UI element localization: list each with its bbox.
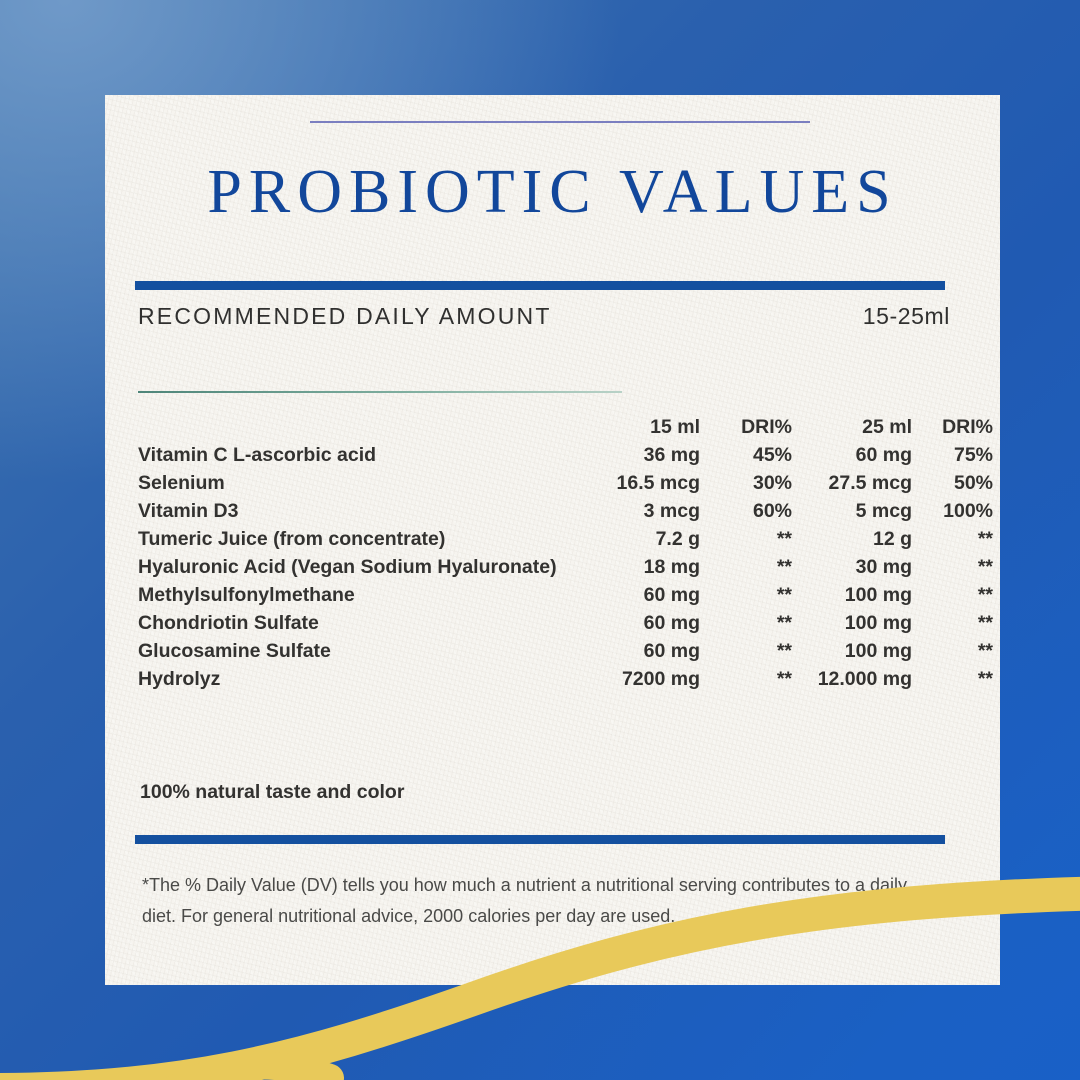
header-dri-25ml: DRI% <box>912 413 993 441</box>
header-nutrient <box>138 413 568 441</box>
table-row: Methylsulfonylmethane60 mg**100 mg** <box>138 581 993 609</box>
cell-nutrient-name: Chondriotin Sulfate <box>138 609 568 637</box>
header-dose-25ml: 25 ml <box>792 413 912 441</box>
cell-dri-15ml: ** <box>700 581 792 609</box>
nutrition-table-head: 15 ml DRI% 25 ml DRI% <box>138 413 993 441</box>
cell-dose-15ml: 16.5 mcg <box>568 469 700 497</box>
cell-dose-15ml: 18 mg <box>568 553 700 581</box>
cell-dri-15ml: ** <box>700 525 792 553</box>
cell-dose-25ml: 60 mg <box>792 441 912 469</box>
cell-dri-25ml: ** <box>912 637 993 665</box>
page-title: PROBIOTIC VALUES <box>105 157 1000 228</box>
nutrition-label-card: PROBIOTIC VALUES RECOMMENDED DAILY AMOUN… <box>105 95 1000 985</box>
cell-nutrient-name: Glucosamine Sulfate <box>138 637 568 665</box>
cell-dose-15ml: 36 mg <box>568 441 700 469</box>
natural-taste-note: 100% natural taste and color <box>140 781 404 804</box>
daily-value-footnote: *The % Daily Value (DV) tells you how mu… <box>142 870 932 932</box>
cell-nutrient-name: Hyaluronic Acid (Vegan Sodium Hyaluronat… <box>138 553 568 581</box>
cell-dri-15ml: 45% <box>700 441 792 469</box>
cell-dose-15ml: 60 mg <box>568 609 700 637</box>
cell-dri-25ml: 75% <box>912 441 993 469</box>
cell-dri-25ml: ** <box>912 581 993 609</box>
table-row: Hydrolyz7200 mg**12.000 mg** <box>138 665 993 693</box>
cell-dri-25ml: ** <box>912 665 993 693</box>
cell-dri-15ml: ** <box>700 553 792 581</box>
divider-rule-bottom <box>135 835 945 844</box>
table-row: Selenium16.5 mcg30%27.5 mcg50% <box>138 469 993 497</box>
cell-dose-25ml: 5 mcg <box>792 497 912 525</box>
swoosh-secondary-icon <box>150 1066 330 1080</box>
cell-dri-15ml: ** <box>700 665 792 693</box>
cell-dose-25ml: 27.5 mcg <box>792 469 912 497</box>
nutrition-table-body: Vitamin C L-ascorbic acid36 mg45%60 mg75… <box>138 441 993 693</box>
recommended-daily-amount-label: RECOMMENDED DAILY AMOUNT <box>138 303 552 330</box>
cell-dose-15ml: 7.2 g <box>568 525 700 553</box>
divider-rule-top <box>135 281 945 290</box>
cell-dose-25ml: 100 mg <box>792 581 912 609</box>
header-dose-15ml: 15 ml <box>568 413 700 441</box>
cell-dri-15ml: ** <box>700 609 792 637</box>
poster-canvas: PROBIOTIC VALUES RECOMMENDED DAILY AMOUN… <box>0 0 1080 1080</box>
cell-dri-25ml: 50% <box>912 469 993 497</box>
cell-dri-25ml: ** <box>912 609 993 637</box>
decorative-top-rule <box>310 121 810 123</box>
cell-dose-25ml: 12.000 mg <box>792 665 912 693</box>
cell-dri-25ml: 100% <box>912 497 993 525</box>
table-row: Glucosamine Sulfate60 mg**100 mg** <box>138 637 993 665</box>
cell-dose-15ml: 60 mg <box>568 637 700 665</box>
cell-dose-25ml: 100 mg <box>792 609 912 637</box>
table-header-row: 15 ml DRI% 25 ml DRI% <box>138 413 993 441</box>
table-row: Hyaluronic Acid (Vegan Sodium Hyaluronat… <box>138 553 993 581</box>
cell-nutrient-name: Vitamin D3 <box>138 497 568 525</box>
cell-dri-15ml: 60% <box>700 497 792 525</box>
cell-dose-25ml: 100 mg <box>792 637 912 665</box>
cell-dose-15ml: 60 mg <box>568 581 700 609</box>
table-row: Tumeric Juice (from concentrate)7.2 g**1… <box>138 525 993 553</box>
cell-dose-25ml: 12 g <box>792 525 912 553</box>
cell-dri-15ml: ** <box>700 637 792 665</box>
table-row: Vitamin D33 mcg60%5 mcg100% <box>138 497 993 525</box>
cell-nutrient-name: Tumeric Juice (from concentrate) <box>138 525 568 553</box>
table-row: Vitamin C L-ascorbic acid36 mg45%60 mg75… <box>138 441 993 469</box>
cell-dose-15ml: 7200 mg <box>568 665 700 693</box>
cell-dri-15ml: 30% <box>700 469 792 497</box>
recommended-daily-amount-value: 15-25ml <box>863 303 950 330</box>
cell-dose-25ml: 30 mg <box>792 553 912 581</box>
header-dri-15ml: DRI% <box>700 413 792 441</box>
decorative-green-rule <box>138 391 622 393</box>
nutrition-table: 15 ml DRI% 25 ml DRI% Vitamin C L-ascorb… <box>138 413 993 693</box>
cell-dri-25ml: ** <box>912 525 993 553</box>
cell-nutrient-name: Selenium <box>138 469 568 497</box>
cell-dose-15ml: 3 mcg <box>568 497 700 525</box>
cell-dri-25ml: ** <box>912 553 993 581</box>
cell-nutrient-name: Methylsulfonylmethane <box>138 581 568 609</box>
cell-nutrient-name: Vitamin C L-ascorbic acid <box>138 441 568 469</box>
cell-nutrient-name: Hydrolyz <box>138 665 568 693</box>
recommended-daily-amount-row: RECOMMENDED DAILY AMOUNT 15-25ml <box>138 303 950 330</box>
table-row: Chondriotin Sulfate60 mg**100 mg** <box>138 609 993 637</box>
